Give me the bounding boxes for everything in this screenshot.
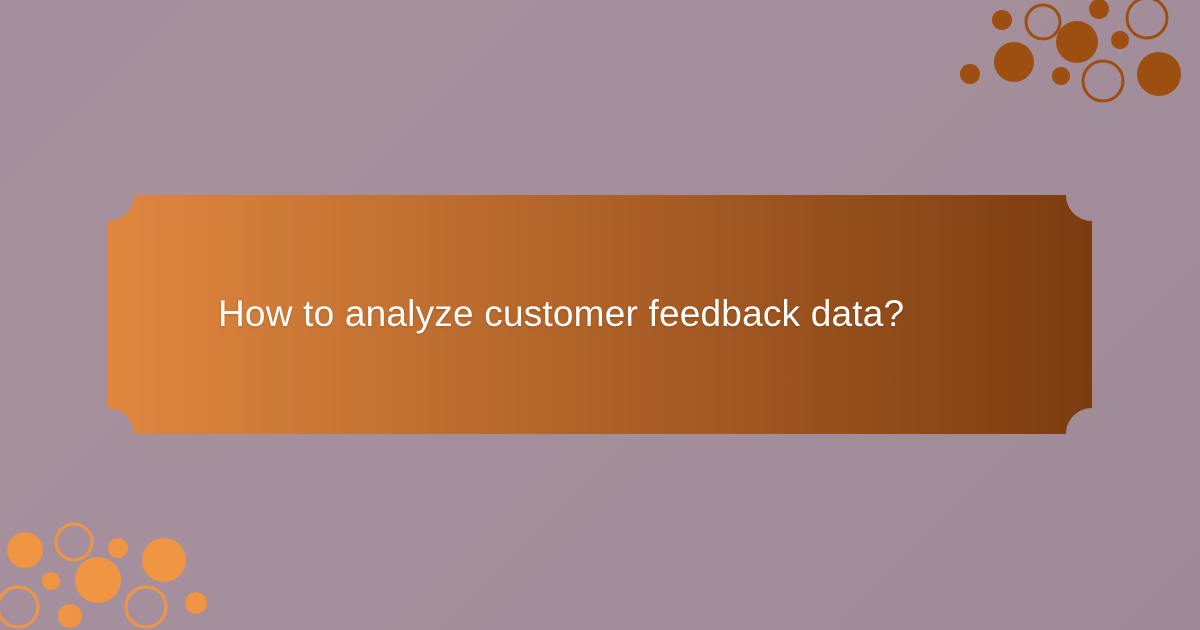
decorative-circle <box>185 592 207 614</box>
decorative-circle <box>58 604 82 628</box>
decorative-circle <box>960 64 980 84</box>
decorative-circle <box>1052 67 1070 85</box>
decorative-circle <box>0 587 38 627</box>
decorative-circle <box>108 538 128 558</box>
decorative-circle <box>1111 31 1129 49</box>
circle-cluster-top-right <box>970 0 1200 120</box>
decorative-circle <box>1026 5 1060 39</box>
decorative-circle <box>56 524 92 560</box>
decorative-circle <box>1056 21 1098 63</box>
circle-cluster-bottom-left <box>0 510 230 630</box>
title-banner: How to analyze customer feedback data? <box>108 195 1092 434</box>
decorative-circle <box>1137 52 1181 96</box>
promo-card: How to analyze customer feedback data? <box>0 0 1200 630</box>
decorative-circle <box>42 572 60 590</box>
decorative-circle <box>75 557 121 603</box>
decorative-circle <box>142 538 186 582</box>
decorative-circle <box>994 42 1034 82</box>
circle-cluster-top-right-svg <box>970 0 1200 120</box>
decorative-circle <box>1089 0 1109 19</box>
circle-cluster-bottom-left-svg <box>0 510 230 630</box>
decorative-circle <box>1127 0 1167 38</box>
decorative-circle <box>1083 61 1123 101</box>
decorative-circle <box>126 587 166 627</box>
decorative-circle <box>992 10 1012 30</box>
decorative-circle <box>7 532 43 568</box>
banner-title: How to analyze customer feedback data? <box>218 195 1032 434</box>
